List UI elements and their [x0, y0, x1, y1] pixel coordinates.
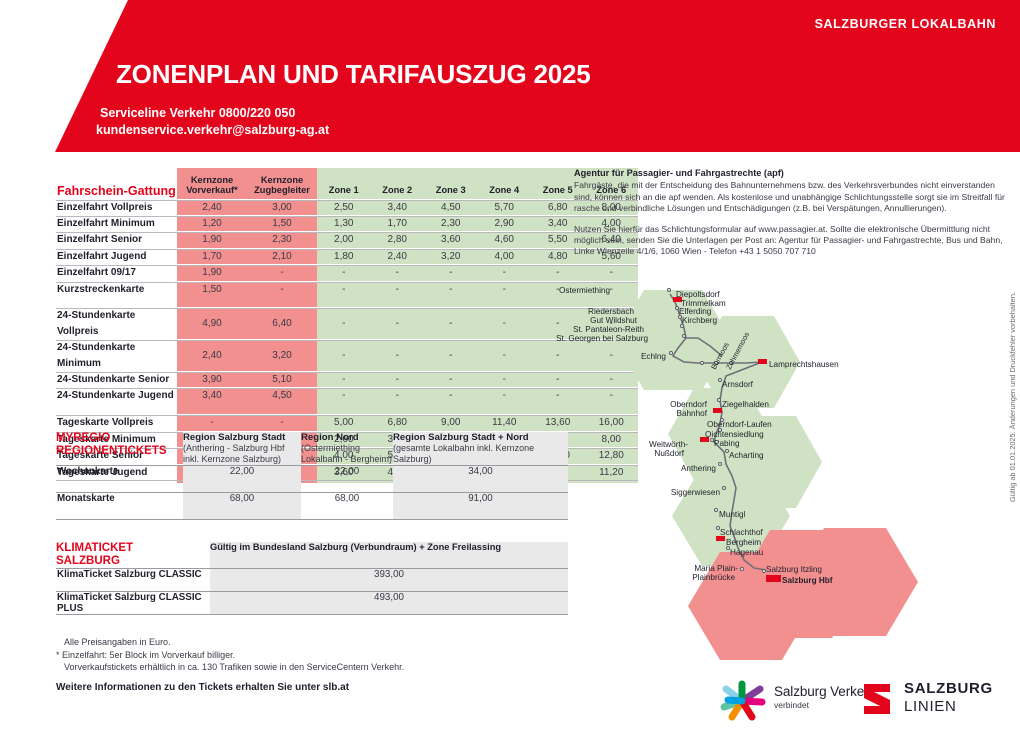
station-dot [740, 567, 744, 571]
col-header-zone-3: Zone 3 [424, 168, 478, 199]
map-station-label: Anthering [681, 464, 716, 473]
header-brand: SALZBURGER LOKALBAHN [815, 17, 996, 31]
myregio-row-value: 22,00 [183, 466, 301, 493]
fare-cell: 1,80 [317, 248, 371, 264]
fare-row-label: Einzelfahrt Jugend [56, 248, 177, 264]
table-row: Wochenkarte 22,00 22,00 34,00 [56, 466, 568, 493]
map-station-label: Nußdorf [654, 449, 684, 458]
fare-row-label: 24-Stundenkarte Vollpreis [56, 308, 177, 340]
fare-cell: 4,50 [247, 388, 317, 404]
map-station-label: Ziegelhalden [722, 400, 769, 409]
map-station-label: Oberndorf [670, 400, 707, 409]
footnote-outlets: Vorverkaufstickets erhältlich in ca. 130… [56, 661, 516, 674]
fare-row-label: 24-Stundenkarte Jugend [56, 388, 177, 404]
fare-row-label: Einzelfahrt Senior [56, 232, 177, 248]
col-header-zone-1: Zone 1 [317, 168, 371, 199]
fare-cell [177, 404, 247, 415]
fare-cell [478, 404, 532, 415]
table-row: Einzelfahrt Jugend1,702,101,802,403,204,… [56, 248, 638, 264]
fare-cell: 2,10 [247, 248, 317, 264]
salzburg-linien-line2: LINIEN [904, 698, 993, 715]
footnote-currency: Alle Preisangaben in Euro. [56, 636, 516, 649]
table-row: 24-Stundenkarte Minimum2,403,20------ [56, 340, 638, 372]
col-header-zone-2: Zone 2 [371, 168, 425, 199]
fare-cell: - [371, 388, 425, 404]
map-station-label: Schlachthof [720, 528, 763, 537]
apf-paragraph-2: Nutzen Sie hierfür das Schlichtungsformu… [574, 224, 1006, 258]
fare-row-label: Einzelfahrt Minimum [56, 215, 177, 231]
fare-cell [478, 297, 532, 308]
map-station-label: Bahnhof [676, 409, 707, 418]
footnote-block-discount: * Einzelfahrt: 5er Block im Vorverkauf b… [56, 649, 516, 662]
fare-row-label: 24-Stundenkarte Minimum [56, 340, 177, 372]
station-dot [669, 351, 673, 355]
myregio-title-line1: MYREGIO [56, 432, 110, 444]
klimaticket-title-line2: SALZBURG [56, 555, 120, 567]
fare-cell: - [317, 388, 371, 404]
station-major-oberndorf-bahnhof [713, 408, 722, 413]
table-row: Einzelfahrt Vollpreis2,403,002,503,404,5… [56, 199, 638, 215]
salzburg-linien-logo-icon [860, 680, 894, 718]
fare-cell: 2,80 [371, 232, 425, 248]
fare-cell: 9,00 [424, 415, 478, 431]
fare-cell: - [424, 265, 478, 281]
fare-row-label: 24-Stundenkarte Senior [56, 372, 177, 388]
fare-cell: 11,40 [478, 415, 532, 431]
fare-cell: - [317, 372, 371, 388]
fare-cell: 5,10 [247, 372, 317, 388]
map-station-label: Maria Plain- [694, 564, 738, 573]
fare-cell: - [247, 281, 317, 297]
fare-cell: 1,20 [177, 215, 247, 231]
fare-cell: 3,20 [424, 248, 478, 264]
col-header-zone-4: Zone 4 [478, 168, 532, 199]
map-station-label: St. Pantaleon-Reith [573, 325, 644, 334]
fare-cell: - [424, 388, 478, 404]
myregio-col-salzburg-stadt: Region Salzburg Stadt (Anthering - Salzb… [183, 432, 301, 466]
myregio-col-name: Region Salzburg Stadt [183, 432, 301, 443]
table-row: KlimaTicket Salzburg CLASSIC PLUS 493,00 [56, 592, 568, 615]
salzburg-verkehr-logo-icon [718, 680, 768, 722]
map-station-label: Siggerwiesen [671, 488, 720, 497]
myregio-col-name: Region Salzburg Stadt + Nord [393, 432, 568, 443]
table-row: Einzelfahrt 09/171,90------- [56, 265, 638, 281]
fare-cell: 4,90 [177, 308, 247, 340]
table-row: Einzelfahrt Senior1,902,302,002,803,604,… [56, 232, 638, 248]
fare-cell: 1,70 [371, 215, 425, 231]
fare-cell: - [371, 308, 425, 340]
myregio-col-detail: (gesamte Lokalbahn inkl. Kernzone Salzbu… [393, 443, 534, 464]
klimaticket-col-header: Gültig im Bundesland Salzburg (Verbundra… [210, 542, 568, 569]
klimaticket-row-label: KlimaTicket Salzburg CLASSIC PLUS [56, 592, 210, 615]
klimaticket-bottom-rule [56, 615, 568, 617]
station-major-salzburg-hbf [766, 575, 781, 582]
fare-cell: 6,80 [371, 415, 425, 431]
fare-cell: 1,90 [177, 232, 247, 248]
klimaticket-table: KLIMATICKET SALZBURG Gültig im Bundeslan… [56, 542, 568, 617]
myregio-row-value: 91,00 [393, 493, 568, 520]
station-dot [682, 334, 686, 338]
fare-cell: - [478, 281, 532, 297]
map-station-label: Plainbrücke [692, 573, 735, 582]
myregio-header-row: MYREGIO REGIONENTICKETS Region Salzburg … [56, 432, 568, 466]
myregio-col-detail: (Ostermiething Lokalbahn - Bergheim) [301, 443, 392, 464]
station-dot [667, 288, 671, 292]
fare-cell [424, 297, 478, 308]
table-row-spacer [56, 297, 638, 308]
validity-sidenote: Gültig ab 01.01.2025. Änderungen und Dru… [1008, 292, 1017, 502]
map-station-label: Arnsdorf [722, 380, 753, 389]
apf-paragraph-1: Fahrgäste, die mit der Entscheidung des … [574, 180, 1006, 214]
fare-cell [247, 404, 317, 415]
fare-cell: - [478, 372, 532, 388]
fare-cell: 6,40 [247, 308, 317, 340]
fare-cell [247, 297, 317, 308]
klimaticket-title-line1: KLIMATICKET [56, 542, 133, 554]
map-station-label: St. Georgen bei Salzburg [556, 334, 648, 343]
table-row: 24-Stundenkarte Jugend3,404,50------ [56, 388, 638, 404]
fare-cell: - [478, 340, 532, 372]
fare-cell: 5,70 [478, 199, 532, 215]
map-station-label: Salzburg Itzling [766, 565, 822, 574]
fare-cell: 4,50 [424, 199, 478, 215]
myregio-col-detail: (Anthering - Salzburg Hbf inkl. Kernzone… [183, 443, 285, 464]
fare-cell: - [317, 281, 371, 297]
table-row: 24-Stundenkarte Senior3,905,10------ [56, 372, 638, 388]
map-station-label: Elferding [679, 307, 711, 316]
station-dot [714, 508, 718, 512]
fare-cell: 3,40 [177, 388, 247, 404]
page-title: ZONENPLAN UND TARIFAUSZUG 2025 [116, 59, 591, 90]
fare-cell: - [424, 308, 478, 340]
fare-cell: - [424, 281, 478, 297]
map-station-label: Muntigl [719, 510, 745, 519]
myregio-title: MYREGIO REGIONENTICKETS [56, 432, 183, 466]
myregio-bottom-rule [56, 520, 568, 522]
fare-cell: - [424, 340, 478, 372]
fare-cell: - [424, 372, 478, 388]
fare-cell: 2,30 [247, 232, 317, 248]
map-station-label: Lamprechtshausen [769, 360, 839, 369]
fare-cell: 1,70 [177, 248, 247, 264]
fare-cell: - [371, 281, 425, 297]
station-major-lamprechtshausen [758, 359, 767, 364]
fare-cell: 2,50 [317, 199, 371, 215]
fare-cell: 3,20 [247, 340, 317, 372]
col-header-line1: Kernzone [261, 175, 303, 185]
map-station-label: Ostermiething [559, 286, 610, 295]
fare-cell [177, 297, 247, 308]
apf-heading: Agentur für Passagier- und Fahrgastrecht… [574, 168, 1006, 179]
apf-section: Agentur für Passagier- und Fahrgastrecht… [574, 168, 1006, 258]
fare-row-label [56, 404, 177, 415]
fare-table-head: Fahrschein-Gattung Kernzone Vorverkauf* … [56, 168, 638, 199]
fare-cell: - [371, 265, 425, 281]
myregio-row-value: 22,00 [301, 466, 393, 493]
map-station-label: Diepoltsdorf [676, 290, 720, 299]
fare-cell: 2,30 [424, 215, 478, 231]
table-row: Einzelfahrt Minimum1,201,501,301,702,302… [56, 215, 638, 231]
footer-logos: Salzburg Verkehr® verbindet SALZBURG LIN… [718, 678, 1008, 724]
fare-cell [317, 404, 371, 415]
fare-cell: 2,40 [177, 340, 247, 372]
myregio-row-value: 34,00 [393, 466, 568, 493]
salzburg-linien-line1: SALZBURG [904, 680, 993, 697]
table-row: Kurzstreckenkarte1,50------- [56, 281, 638, 297]
fare-cell: 3,00 [247, 199, 317, 215]
fare-cell [424, 404, 478, 415]
col-header-line1: Kernzone [191, 175, 233, 185]
fare-row-label: Einzelfahrt 09/17 [56, 265, 177, 281]
myregio-table: MYREGIO REGIONENTICKETS Region Salzburg … [56, 432, 568, 522]
station-dot [717, 398, 721, 402]
fare-cell: 2,00 [317, 232, 371, 248]
fare-cell: 2,40 [177, 199, 247, 215]
fare-cell: 4,00 [478, 248, 532, 264]
fare-cell: 3,60 [424, 232, 478, 248]
table-row: Monatskarte 68,00 68,00 91,00 [56, 493, 568, 520]
map-station-label: Kirchberg [682, 316, 717, 325]
table-row: Tageskarte Vollpreis--5,006,809,0011,401… [56, 415, 638, 431]
fare-cell: 2,90 [478, 215, 532, 231]
map-station-label: Acharting [729, 451, 764, 460]
map-station-label: Echlng [641, 352, 666, 361]
fare-cell: 4,60 [478, 232, 532, 248]
map-station-label: Pabing [714, 439, 740, 448]
fare-cell: - [478, 308, 532, 340]
fare-cell: 1,50 [177, 281, 247, 297]
map-station-label: Riedersbach [588, 307, 634, 316]
fare-cell [317, 297, 371, 308]
klimaticket-header-row: KLIMATICKET SALZBURG Gültig im Bundeslan… [56, 542, 568, 569]
fare-row-label [56, 297, 177, 308]
col-header-kernzone-zugbegleiter: Kernzone Zugbegleiter [247, 168, 317, 199]
fare-cell: 1,50 [247, 215, 317, 231]
footnotes: Alle Preisangaben in Euro. * Einzelfahrt… [56, 636, 516, 674]
fare-cell [371, 297, 425, 308]
myregio-col-nord: Region Nord (Ostermiething Lokalbahn - B… [301, 432, 393, 466]
fare-row-label: Einzelfahrt Vollpreis [56, 199, 177, 215]
fare-cell: - [371, 340, 425, 372]
fare-cell: 3,40 [371, 199, 425, 215]
fare-cell: 1,90 [177, 265, 247, 281]
col-header-line2: Vorverkauf* [186, 185, 238, 195]
station-dot [722, 486, 726, 490]
map-station-label: Salzburg Hbf [782, 576, 833, 585]
header-email[interactable]: kundenservice.verkehr@salzburg-ag.at [96, 123, 329, 137]
myregio-row-value: 68,00 [301, 493, 393, 520]
salzburg-linien-wordmark: SALZBURG LINIEN [904, 680, 993, 715]
map-station-label: Oberndorf-Laufen [707, 420, 772, 429]
map-station-label: Weitwörth- [649, 440, 688, 449]
fare-row-label: Tageskarte Vollpreis [56, 415, 177, 431]
fare-cell: - [478, 265, 532, 281]
myregio-col-name: Region Nord [301, 432, 393, 443]
fare-cell: - [478, 388, 532, 404]
fare-cell: - [317, 308, 371, 340]
map-station-label: Oichtensiedlung [705, 430, 764, 439]
zone-map: OstermiethingDiepoltsdorfTrimmelkamRiede… [574, 276, 994, 666]
klimaticket-row-label: KlimaTicket Salzburg CLASSIC [56, 569, 210, 592]
col-header-kernzone-vorverkauf: Kernzone Vorverkauf* [177, 168, 247, 199]
table-row-spacer [56, 404, 638, 415]
fare-cell: 1,30 [317, 215, 371, 231]
station-dot [718, 462, 722, 466]
map-station-label: Gut Wildshut [590, 316, 637, 325]
fare-cell: 3,90 [177, 372, 247, 388]
klimaticket-row-value: 393,00 [210, 569, 568, 592]
klimaticket-title: KLIMATICKET SALZBURG [56, 542, 210, 569]
fare-cell: 5,00 [317, 415, 371, 431]
fare-cell [371, 404, 425, 415]
myregio-row-label: Wochenkarte [56, 466, 183, 493]
fare-cell: - [317, 340, 371, 372]
col-header-line2: Zugbegleiter [254, 185, 310, 195]
fare-cell: 2,40 [371, 248, 425, 264]
header-serviceline: Serviceline Verkehr 0800/220 050 [100, 106, 295, 120]
fare-cell: - [371, 372, 425, 388]
myregio-row-label: Monatskarte [56, 493, 183, 520]
fare-table-label-header: Fahrschein-Gattung [56, 168, 177, 199]
table-row: 24-Stundenkarte Vollpreis4,906,40------ [56, 308, 638, 340]
fare-cell: - [247, 415, 317, 431]
map-station-label: Hagenau [730, 548, 763, 557]
fare-cell: - [247, 265, 317, 281]
map-station-label: Bergheim [726, 538, 761, 547]
table-row: KlimaTicket Salzburg CLASSIC 393,00 [56, 569, 568, 592]
myregio-col-stadt-nord: Region Salzburg Stadt + Nord (gesamte Lo… [393, 432, 568, 466]
fare-row-label: Kurzstreckenkarte [56, 281, 177, 297]
fare-cell: - [317, 265, 371, 281]
myregio-title-line2: REGIONENTICKETS [56, 445, 167, 457]
myregio-row-value: 68,00 [183, 493, 301, 520]
more-info-text: Weitere Informationen zu den Tickets erh… [56, 682, 349, 693]
fare-cell: - [177, 415, 247, 431]
klimaticket-row-value: 493,00 [210, 592, 568, 615]
station-dot [700, 361, 704, 365]
